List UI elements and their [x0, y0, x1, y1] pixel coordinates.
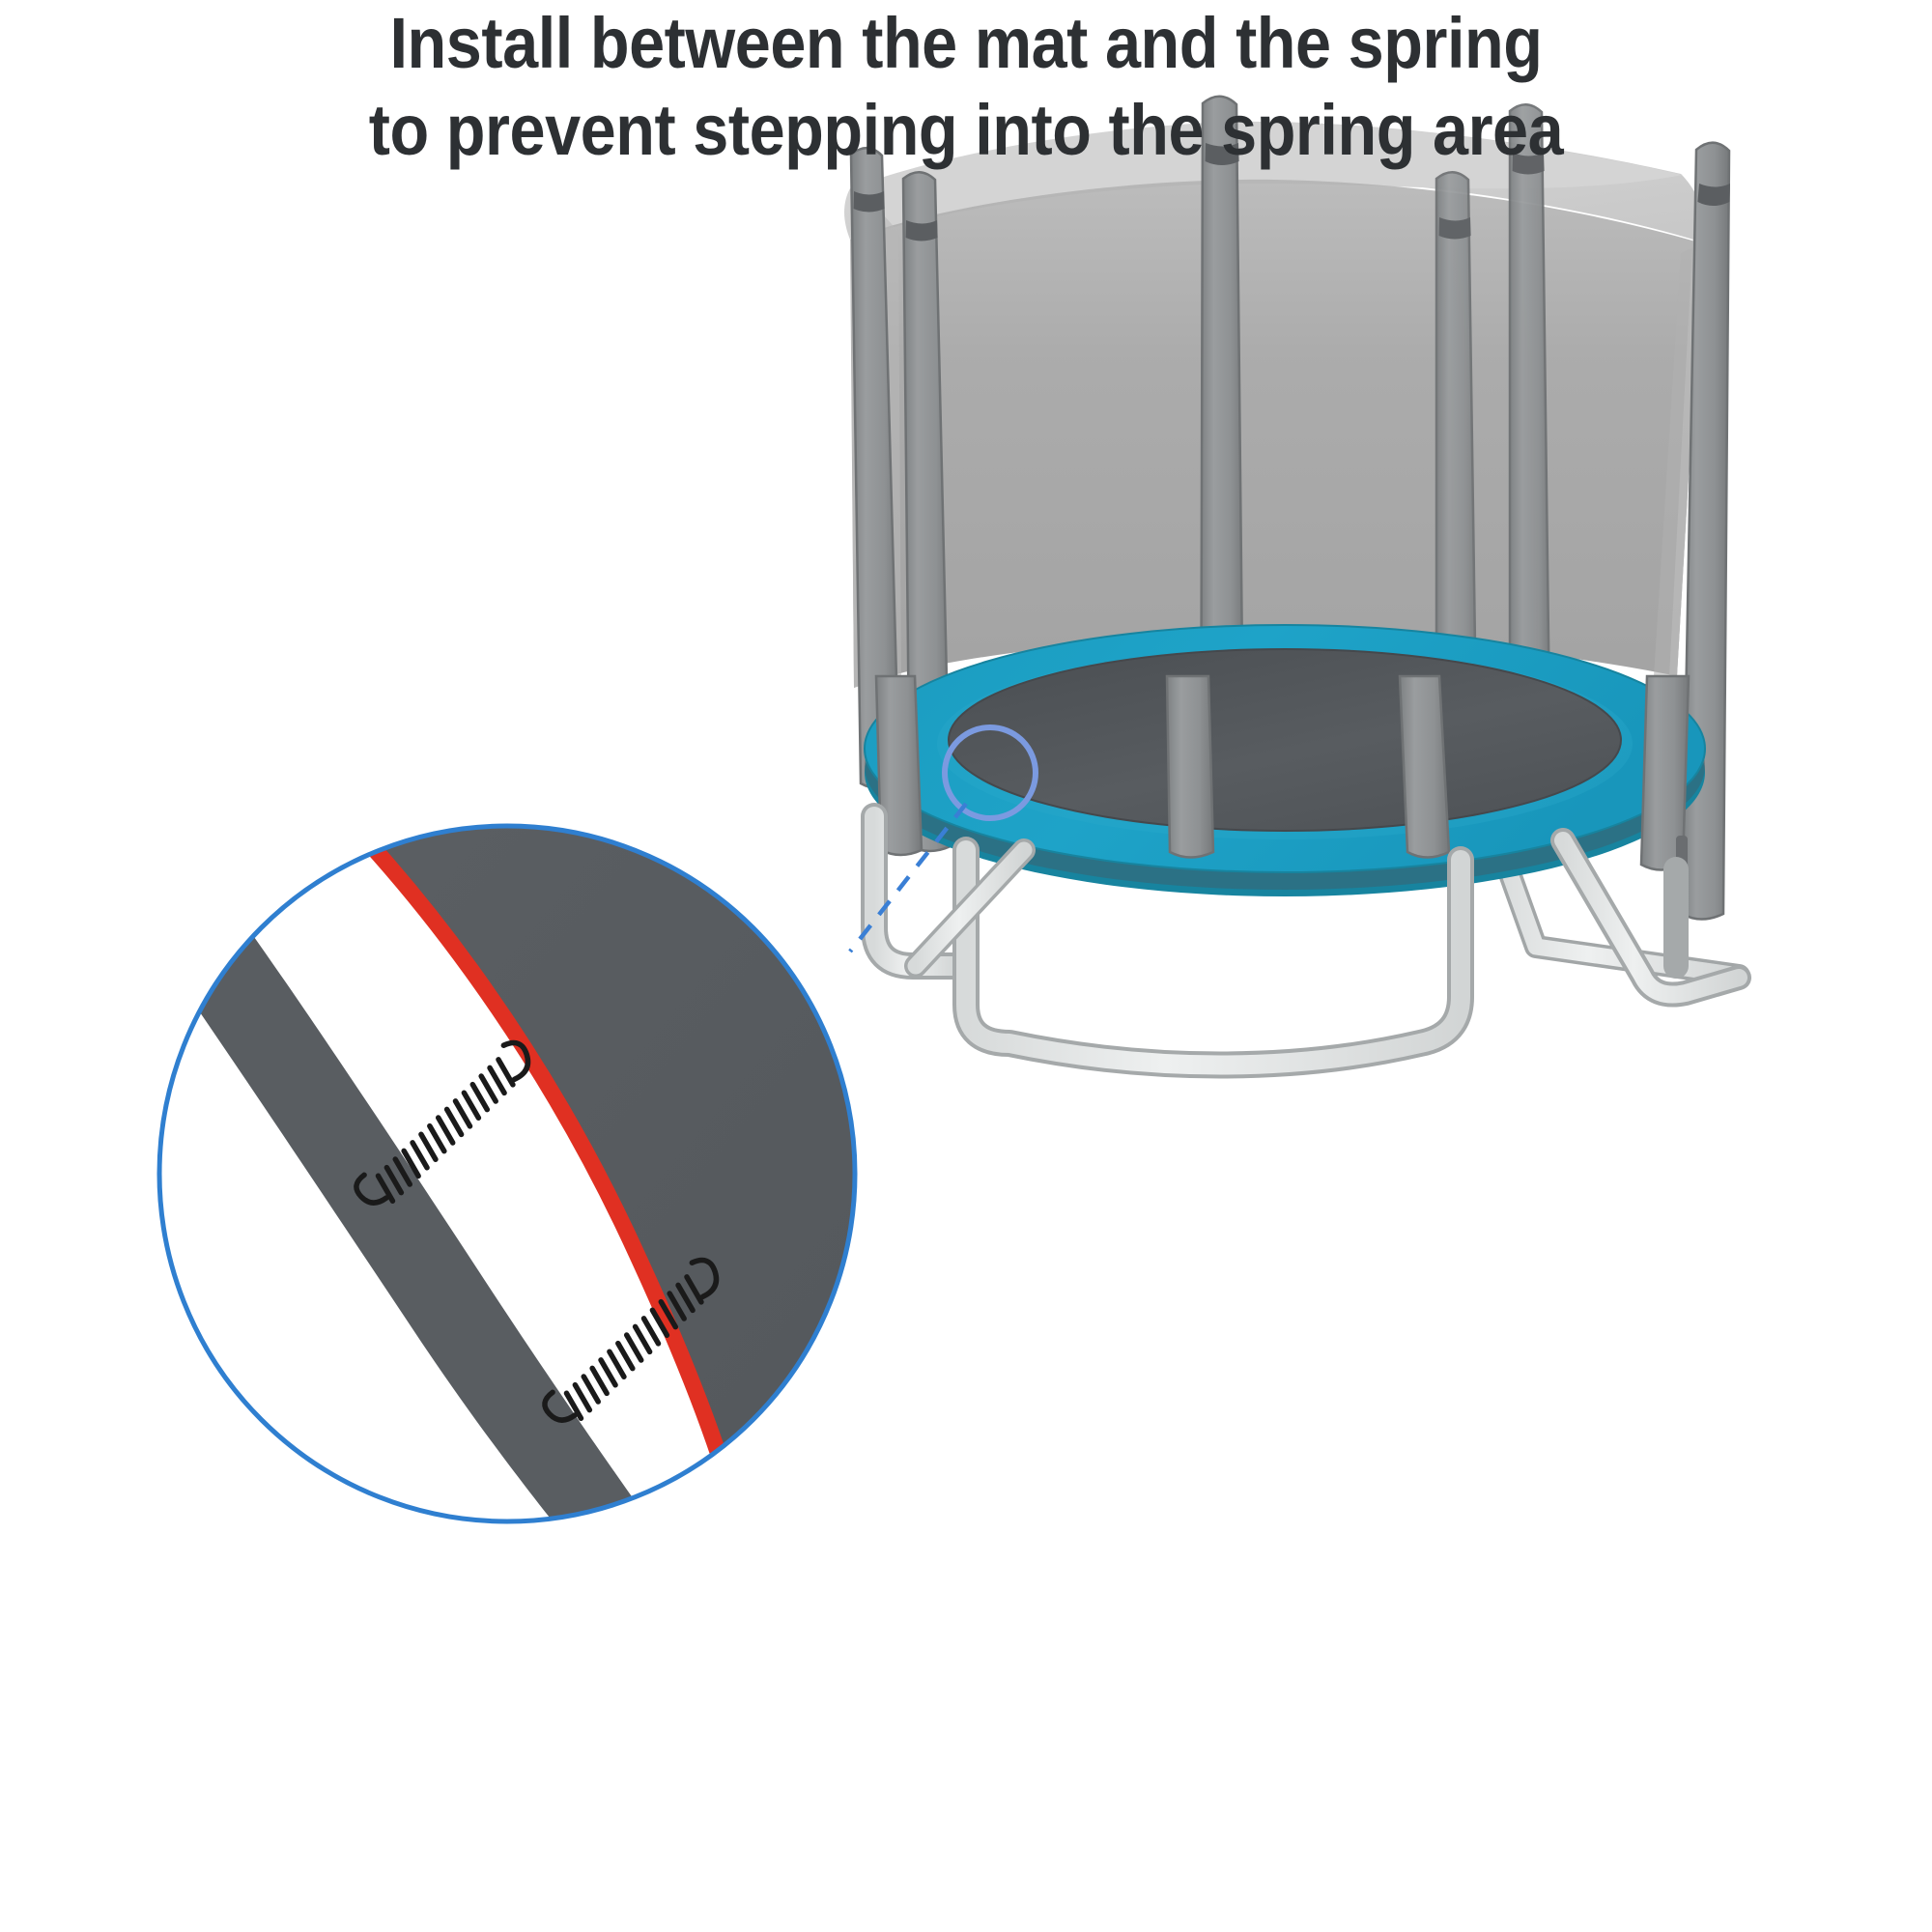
illustration-page: Install between the mat and the spring t… [0, 0, 1932, 1932]
jumping-mat [949, 649, 1621, 831]
net-body [850, 180, 1702, 688]
trampoline-illustration [0, 0, 1932, 1932]
magnified-detail [155, 733, 966, 1565]
net-pole-3-lower [1167, 676, 1213, 858]
caption-line-2: to prevent stepping into the spring area [97, 87, 1835, 174]
net-pole-4-lower [1400, 676, 1449, 858]
enclosure-net [844, 122, 1704, 688]
caption-text: Install between the mat and the spring t… [0, 0, 1932, 175]
caption-line-1: Install between the mat and the spring [97, 0, 1835, 87]
trampoline-overview [844, 97, 1739, 1065]
